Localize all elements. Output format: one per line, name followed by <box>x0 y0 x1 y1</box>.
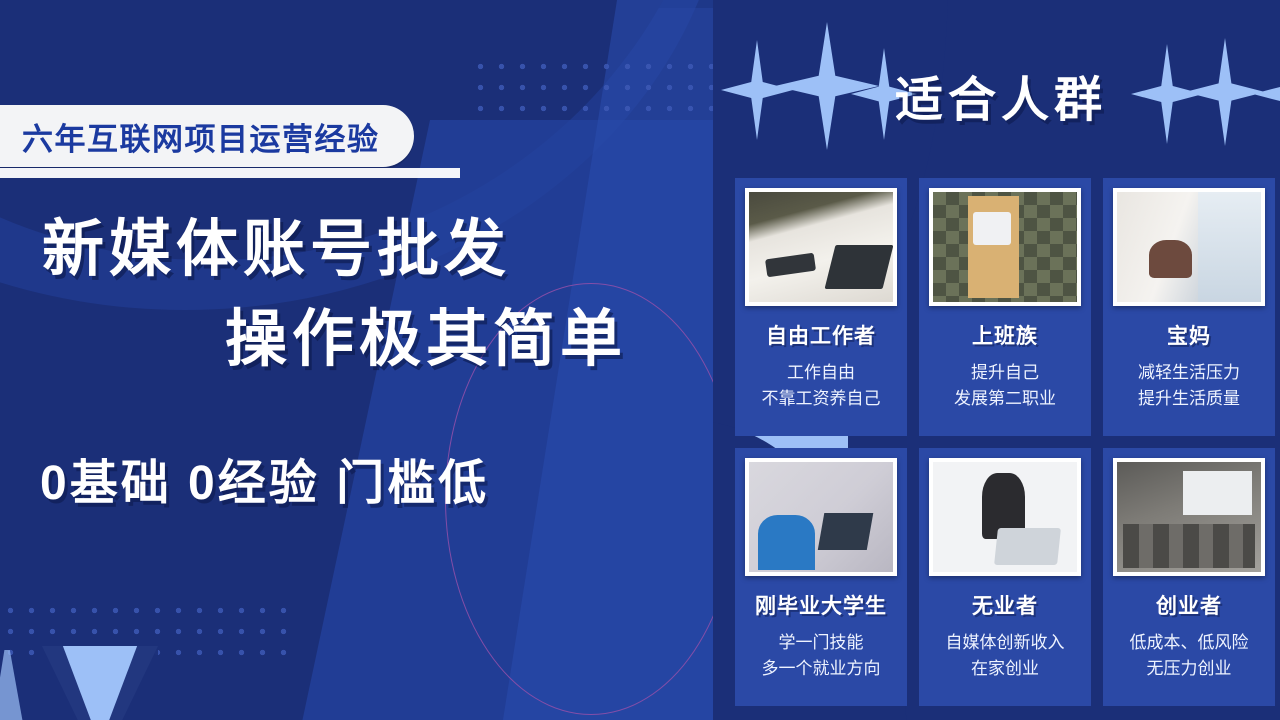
card-description-line-2: 不靠工资养自己 <box>762 386 881 412</box>
right-panel-title: 适合人群 <box>895 60 1107 130</box>
poster-canvas: 六年互联网项目运营经验 新媒体账号批发 操作极其简单 0基础 0经验 门槛低 适… <box>0 0 1280 720</box>
card-description: 学一门技能 多一个就业方向 <box>762 630 881 683</box>
stressed-woman-laptop-photo <box>933 462 1077 572</box>
card-description: 提升自己 发展第二职业 <box>954 360 1056 413</box>
audience-card[interactable]: 宝妈 减轻生活压力 提升生活质量 <box>1103 178 1275 436</box>
card-photo-frame <box>1113 188 1265 306</box>
dot-grid-top-icon <box>470 56 713 122</box>
card-photo-frame <box>929 188 1081 306</box>
audience-card[interactable]: 无业者 自媒体创新收入 在家创业 <box>919 448 1091 706</box>
headline-block: 新媒体账号批发 操作极其简单 <box>0 205 690 385</box>
audience-card[interactable]: 创业者 低成本、低风险 无压力创业 <box>1103 448 1275 706</box>
card-description-line-2: 提升生活质量 <box>1138 386 1240 412</box>
card-photo-frame <box>1113 458 1265 576</box>
card-photo-frame <box>745 188 897 306</box>
card-description-line-1: 提升自己 <box>954 360 1056 386</box>
card-description-line-1: 低成本、低风险 <box>1130 630 1249 656</box>
card-description: 自媒体创新收入 在家创业 <box>946 630 1065 683</box>
card-title: 上班族 <box>972 320 1038 350</box>
card-description-line-2: 无压力创业 <box>1130 656 1249 682</box>
right-panel: 适合人群 自由工作者 工作自由 不靠工资养自己 上班族 提升自己 <box>713 0 1280 720</box>
card-description: 工作自由 不靠工资养自己 <box>762 360 881 413</box>
card-description-line-1: 工作自由 <box>762 360 881 386</box>
card-title: 无业者 <box>972 590 1038 620</box>
headline-line-2: 操作极其简单 <box>0 295 690 385</box>
card-description: 低成本、低风险 无压力创业 <box>1130 630 1249 683</box>
audience-card-grid: 自由工作者 工作自由 不靠工资养自己 上班族 提升自己 发展第二职业 <box>735 178 1275 706</box>
card-description-line-1: 减轻生活压力 <box>1138 360 1240 386</box>
card-description-line-2: 多一个就业方向 <box>762 656 881 682</box>
card-description-line-2: 发展第二职业 <box>954 386 1056 412</box>
mother-tablet-photo <box>1117 192 1261 302</box>
card-title: 刚毕业大学生 <box>755 590 887 620</box>
card-photo-frame <box>929 458 1081 576</box>
card-title: 自由工作者 <box>766 320 876 350</box>
subheadline-text: 0基础 0经验 门槛低 <box>40 443 489 513</box>
card-description: 减轻生活压力 提升生活质量 <box>1138 360 1240 413</box>
classroom-seminar-photo <box>1117 462 1261 572</box>
card-photo-frame <box>745 458 897 576</box>
audience-card[interactable]: 自由工作者 工作自由 不靠工资养自己 <box>735 178 907 436</box>
card-title: 创业者 <box>1156 590 1222 620</box>
badge-underline-bar <box>0 168 460 178</box>
card-title: 宝妈 <box>1167 320 1211 350</box>
experience-badge-label: 六年互联网项目运营经验 <box>22 114 380 159</box>
student-desk-photo <box>749 462 893 572</box>
card-description-line-1: 自媒体创新收入 <box>946 630 1065 656</box>
card-description-line-2: 在家创业 <box>946 656 1065 682</box>
headline-line-1: 新媒体账号批发 <box>0 205 690 295</box>
bed-laptop-photo <box>749 192 893 302</box>
experience-badge: 六年互联网项目运营经验 <box>0 105 414 167</box>
audience-card[interactable]: 上班族 提升自己 发展第二职业 <box>919 178 1091 436</box>
audience-card[interactable]: 刚毕业大学生 学一门技能 多一个就业方向 <box>735 448 907 706</box>
office-meeting-photo <box>933 192 1077 302</box>
left-panel: 六年互联网项目运营经验 新媒体账号批发 操作极其简单 0基础 0经验 门槛低 <box>0 0 713 720</box>
card-description-line-1: 学一门技能 <box>762 630 881 656</box>
